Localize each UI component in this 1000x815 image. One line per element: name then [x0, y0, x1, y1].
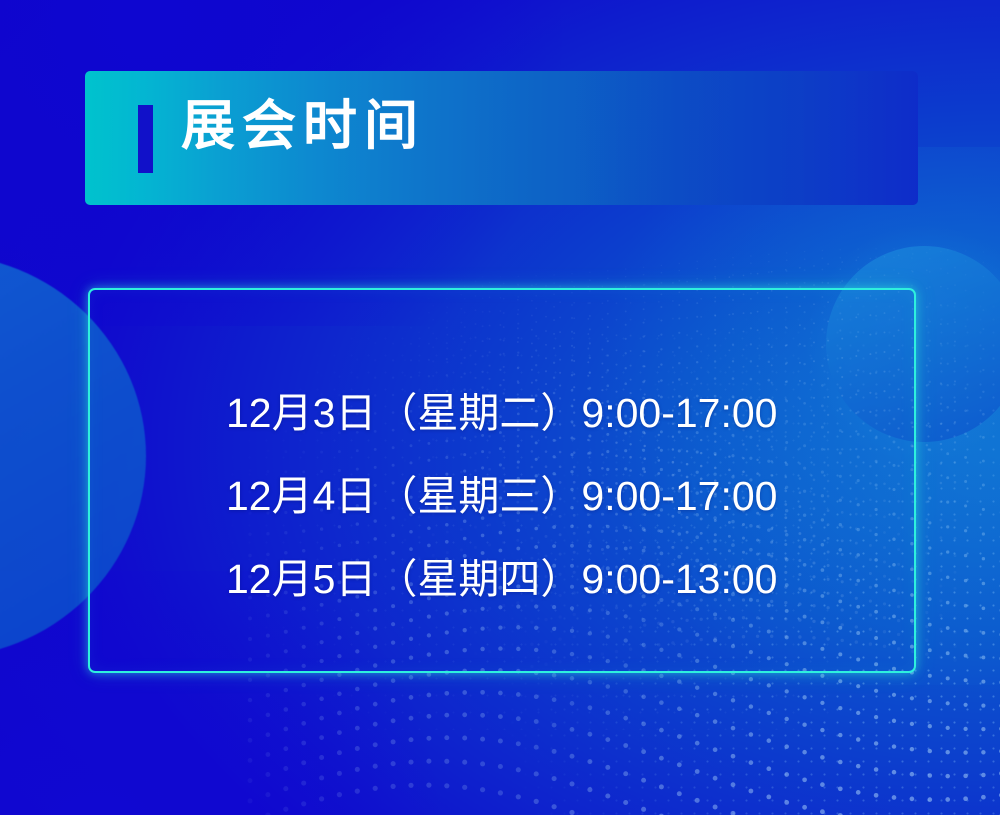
list-item: 12月5日（星期四）9:00-13:00 [226, 538, 777, 621]
list-item: 12月3日（星期二）9:00-17:00 [226, 372, 777, 455]
list-item: 12月4日（星期三）9:00-17:00 [226, 455, 777, 538]
schedule-list: 12月3日（星期二）9:00-17:00 12月4日（星期三）9:00-17:0… [226, 372, 777, 621]
exhibition-time-poster: 展会时间 12月3日（星期二）9:00-17:00 12月4日（星期三）9:00… [0, 0, 1000, 815]
page-title: 展会时间 [181, 99, 425, 153]
title-accent-bar [138, 105, 153, 173]
